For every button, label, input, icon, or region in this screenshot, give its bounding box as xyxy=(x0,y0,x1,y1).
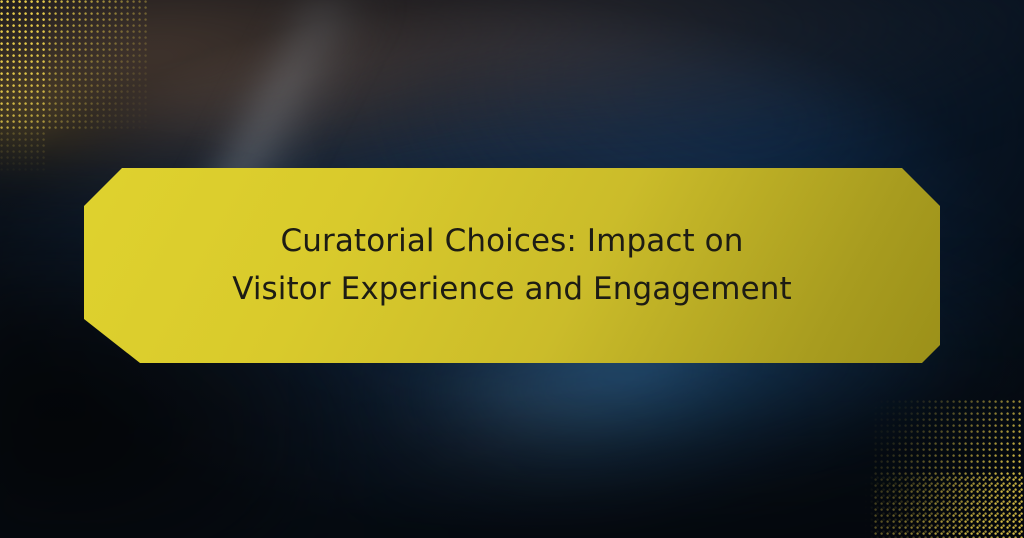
title-card: Curatorial Choices: Impact on Visitor Ex… xyxy=(0,0,1024,538)
page-title: Curatorial Choices: Impact on Visitor Ex… xyxy=(162,218,862,312)
title-banner: Curatorial Choices: Impact on Visitor Ex… xyxy=(84,168,940,363)
